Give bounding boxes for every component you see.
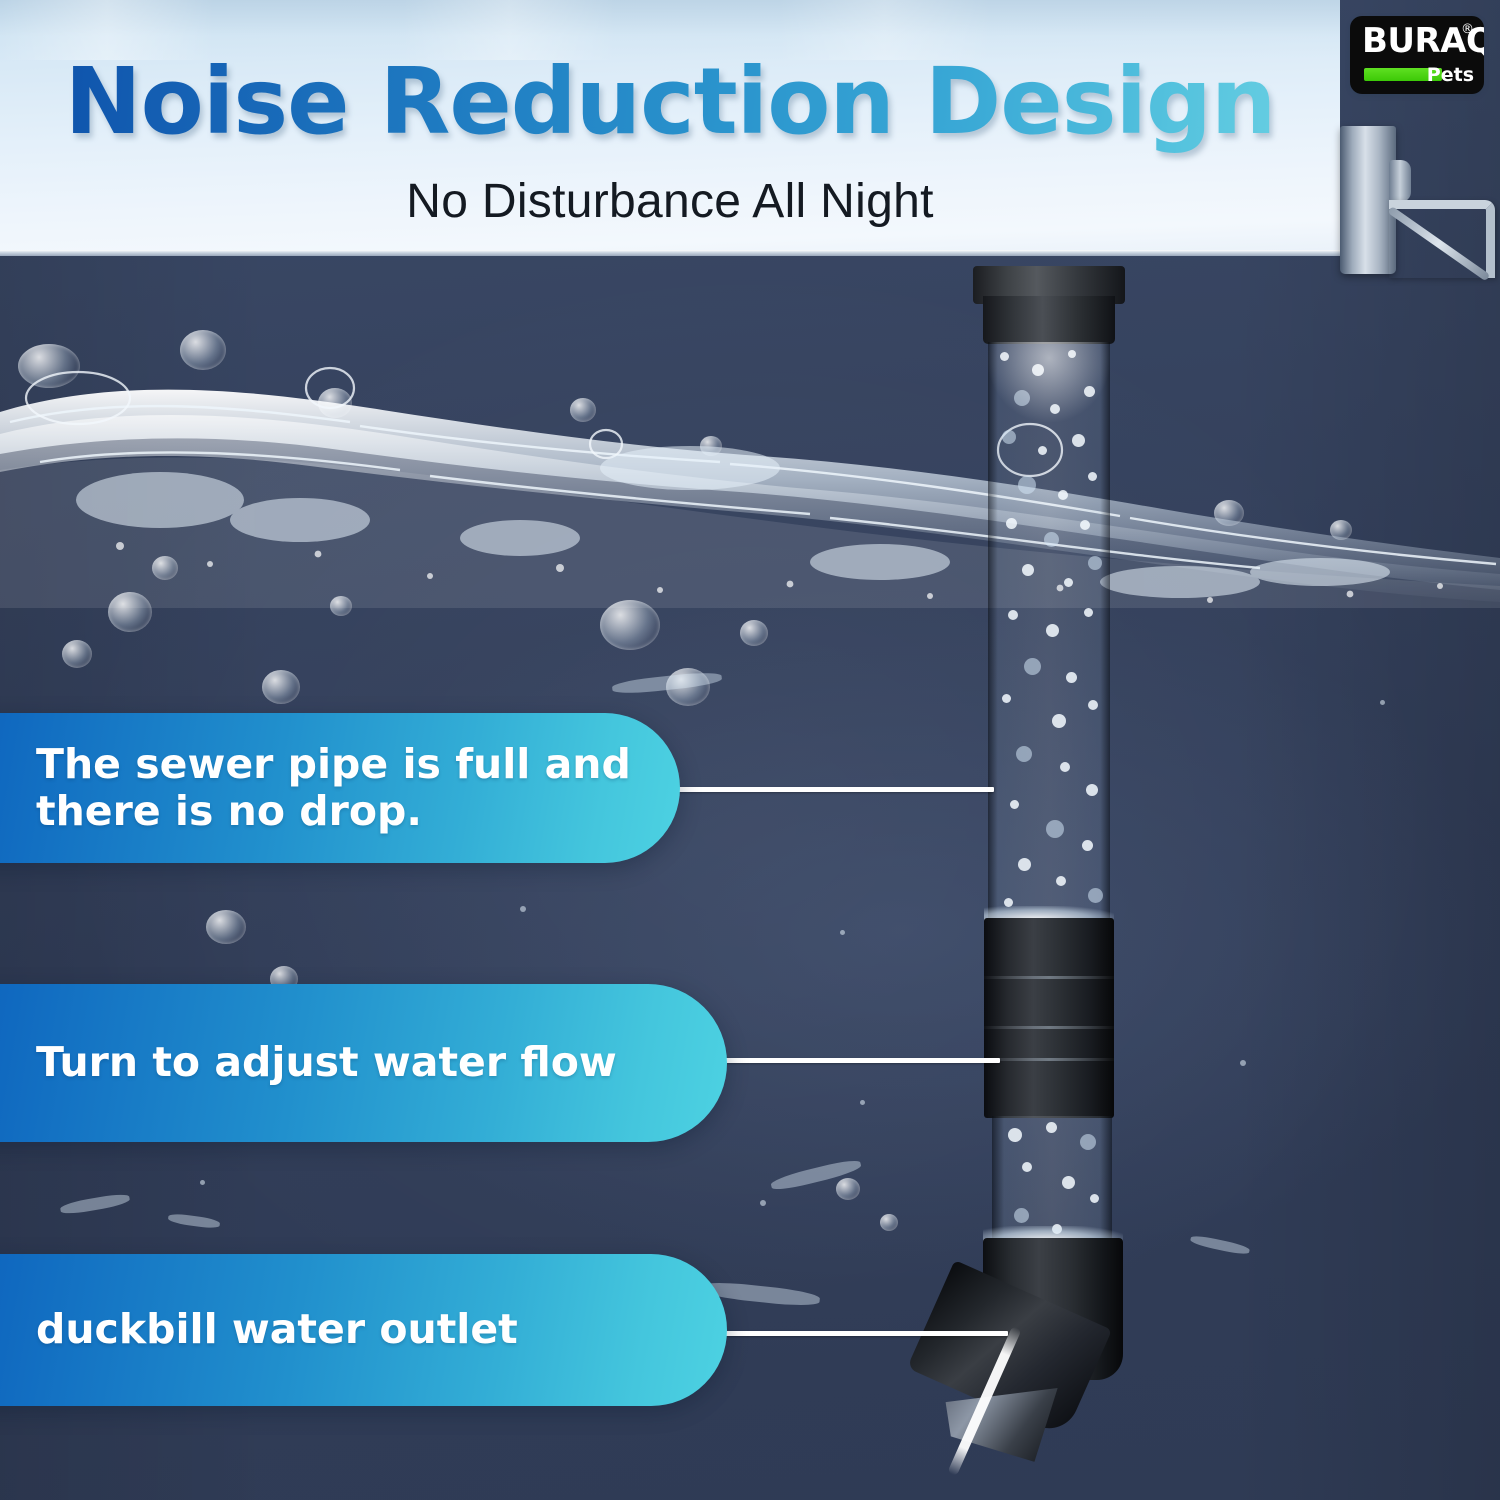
callout-label: duckbill water outlet (0, 1306, 558, 1353)
brand-logo-tagline: Pets (1427, 64, 1474, 86)
page-title: Noise Reduction Design (0, 48, 1340, 155)
callout-leader-line (676, 787, 994, 792)
flow-adjust-collar (984, 918, 1114, 1118)
callout-leader-line (724, 1058, 1000, 1063)
callout-duckbill-outlet: duckbill water outlet (0, 1254, 727, 1406)
clear-pipe-tube (988, 342, 1110, 920)
registered-trademark-icon: ® (1461, 22, 1474, 37)
brand-logo[interactable]: BURAQ ® Pets (1350, 16, 1484, 94)
callout-label: The sewer pipe is full and there is no d… (0, 741, 680, 835)
clamp-knob (1389, 160, 1411, 202)
product-infographic: Noise Reduction Design No Disturbance Al… (0, 0, 1500, 1500)
header-banner: Noise Reduction Design No Disturbance Al… (0, 0, 1340, 256)
page-subtitle: No Disturbance All Night (0, 174, 1340, 229)
callout-leader-line (724, 1331, 1008, 1336)
callout-adjust-water-flow: Turn to adjust water flow (0, 984, 727, 1142)
callout-label: Turn to adjust water flow (0, 1039, 657, 1086)
clamp-post (1340, 126, 1396, 274)
callout-sewer-pipe-full: The sewer pipe is full and there is no d… (0, 713, 680, 863)
header-divider (0, 250, 1340, 256)
water-surface-wave (0, 350, 1500, 610)
pipe-top-collar (983, 296, 1115, 344)
